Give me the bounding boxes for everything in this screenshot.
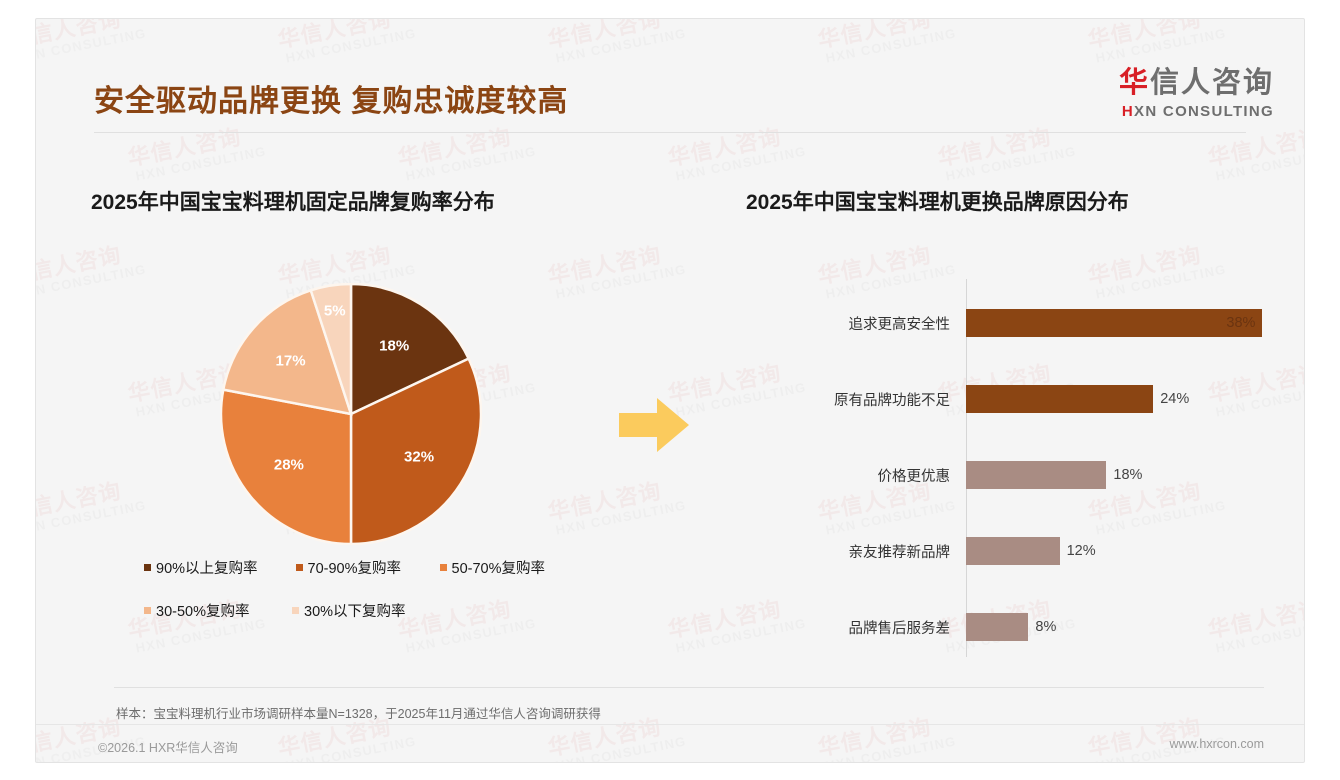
footer-divider — [36, 724, 1304, 725]
legend-label: 70-90%复购率 — [308, 557, 401, 578]
bar-category-label: 价格更优惠 — [786, 465, 958, 486]
bar-track: 8% — [966, 609, 1286, 645]
watermark-tile: 华信人咨询HXN CONSULTING — [936, 121, 1078, 185]
bar-category-label: 亲友推荐新品牌 — [786, 541, 958, 562]
bar-chart-row: 品牌售后服务差8% — [786, 609, 1286, 645]
legend-item[interactable]: 50-70%复购率 — [440, 557, 550, 578]
logo-cn-accent-char: 华 — [1119, 67, 1150, 99]
pie-slice-value-label: 28% — [274, 457, 304, 474]
bar-track: 12% — [966, 533, 1286, 569]
bar-chart-row: 追求更高安全性38% — [786, 305, 1286, 341]
brand-logo: 华信人咨询 HXN CONSULTING — [1119, 69, 1274, 119]
watermark-tile: 华信人咨询HXN CONSULTING — [816, 711, 958, 762]
legend-row: 90%以上复购率70-90%复购率50-70%复购率 — [144, 557, 614, 578]
legend-swatch-icon — [144, 564, 151, 571]
bar-chart-title: 2025年中国宝宝料理机更换品牌原因分布 — [746, 186, 1129, 216]
bar-chart-row: 价格更优惠18% — [786, 457, 1286, 493]
logo-cn-rest: 信人咨询 — [1150, 67, 1274, 99]
bar-track: 38% — [966, 305, 1286, 341]
bar-fill[interactable] — [966, 461, 1106, 489]
slide-canvas: 华信人咨询HXN CONSULTING华信人咨询HXN CONSULTING华信… — [35, 18, 1305, 763]
bar-fill[interactable] — [966, 613, 1028, 641]
bar-value-label: 12% — [1067, 543, 1096, 559]
pie-chart-legend: 90%以上复购率70-90%复购率50-70%复购率30-50%复购率30%以下… — [144, 557, 614, 643]
bar-value-label: 38% — [1226, 315, 1255, 331]
slide-header: 安全驱动品牌更换 复购忠诚度较高 华信人咨询 HXN CONSULTING — [36, 19, 1304, 129]
header-divider — [94, 132, 1246, 133]
bar-category-label: 追求更高安全性 — [786, 313, 958, 334]
pie-slice-value-label: 18% — [379, 337, 409, 354]
legend-swatch-icon — [292, 607, 299, 614]
pie-chart-svg — [220, 283, 482, 545]
legend-row: 30-50%复购率30%以下复购率 — [144, 600, 614, 621]
footnote-divider — [114, 687, 1264, 688]
bar-fill[interactable] — [966, 309, 1262, 337]
pie-slice-value-label: 17% — [276, 352, 306, 369]
pie-chart-title: 2025年中国宝宝料理机固定品牌复购率分布 — [91, 186, 495, 216]
bar-value-label: 24% — [1160, 391, 1189, 407]
copyright-text: ©2026.1 HXR华信人咨询 — [98, 737, 238, 756]
bar-category-label: 原有品牌功能不足 — [786, 389, 958, 410]
bar-value-label: 18% — [1113, 467, 1142, 483]
logo-chinese-text: 华信人咨询 — [1119, 69, 1274, 98]
bar-category-label: 品牌售后服务差 — [786, 617, 958, 638]
website-text: www.hxrcon.com — [1170, 737, 1264, 751]
watermark-tile: 华信人咨询HXN CONSULTING — [36, 475, 148, 539]
legend-label: 30-50%复购率 — [156, 600, 249, 621]
watermark-tile: 华信人咨询HXN CONSULTING — [1206, 121, 1304, 185]
legend-item[interactable]: 30-50%复购率 — [144, 600, 254, 621]
bar-chart-row: 原有品牌功能不足24% — [786, 381, 1286, 417]
logo-english-text: HXN CONSULTING — [1119, 104, 1274, 119]
watermark-tile: 华信人咨询HXN CONSULTING — [666, 121, 808, 185]
pie-slice-value-label: 32% — [404, 449, 434, 466]
pie-chart: 18%32%28%17%5% — [220, 283, 482, 545]
legend-label: 90%以上复购率 — [156, 557, 258, 578]
watermark-tile: 华信人咨询HXN CONSULTING — [546, 475, 688, 539]
watermark-tile: 华信人咨询HXN CONSULTING — [36, 239, 148, 303]
bar-chart-row: 亲友推荐新品牌12% — [786, 533, 1286, 569]
legend-item[interactable]: 30%以下复购率 — [292, 600, 406, 621]
legend-item[interactable]: 70-90%复购率 — [296, 557, 406, 578]
legend-label: 50-70%复购率 — [452, 557, 545, 578]
legend-swatch-icon — [144, 607, 151, 614]
logo-en-accent-char: H — [1122, 103, 1134, 120]
legend-swatch-icon — [440, 564, 447, 571]
pie-slice-value-label: 5% — [324, 303, 346, 320]
bar-fill[interactable] — [966, 537, 1060, 565]
bar-value-label: 8% — [1035, 619, 1056, 635]
legend-label: 30%以下复购率 — [304, 600, 406, 621]
page-title: 安全驱动品牌更换 复购忠诚度较高 — [94, 76, 568, 120]
watermark-tile: 华信人咨询HXN CONSULTING — [126, 121, 268, 185]
footnote-text: 样本：宝宝料理机行业市场调研样本量N=1328，于2025年11月通过华信人咨询… — [116, 703, 601, 722]
bar-chart: 追求更高安全性38%原有品牌功能不足24%价格更优惠18%亲友推荐新品牌12%品… — [786, 277, 1286, 659]
logo-en-rest: XN CONSULTING — [1134, 103, 1274, 120]
bar-fill[interactable] — [966, 385, 1153, 413]
legend-item[interactable]: 90%以上复购率 — [144, 557, 258, 578]
bar-track: 18% — [966, 457, 1286, 493]
watermark-tile: 华信人咨询HXN CONSULTING — [546, 239, 688, 303]
arrow-right-icon — [619, 394, 689, 456]
watermark-tile: 华信人咨询HXN CONSULTING — [396, 121, 538, 185]
bar-track: 24% — [966, 381, 1286, 417]
legend-swatch-icon — [296, 564, 303, 571]
